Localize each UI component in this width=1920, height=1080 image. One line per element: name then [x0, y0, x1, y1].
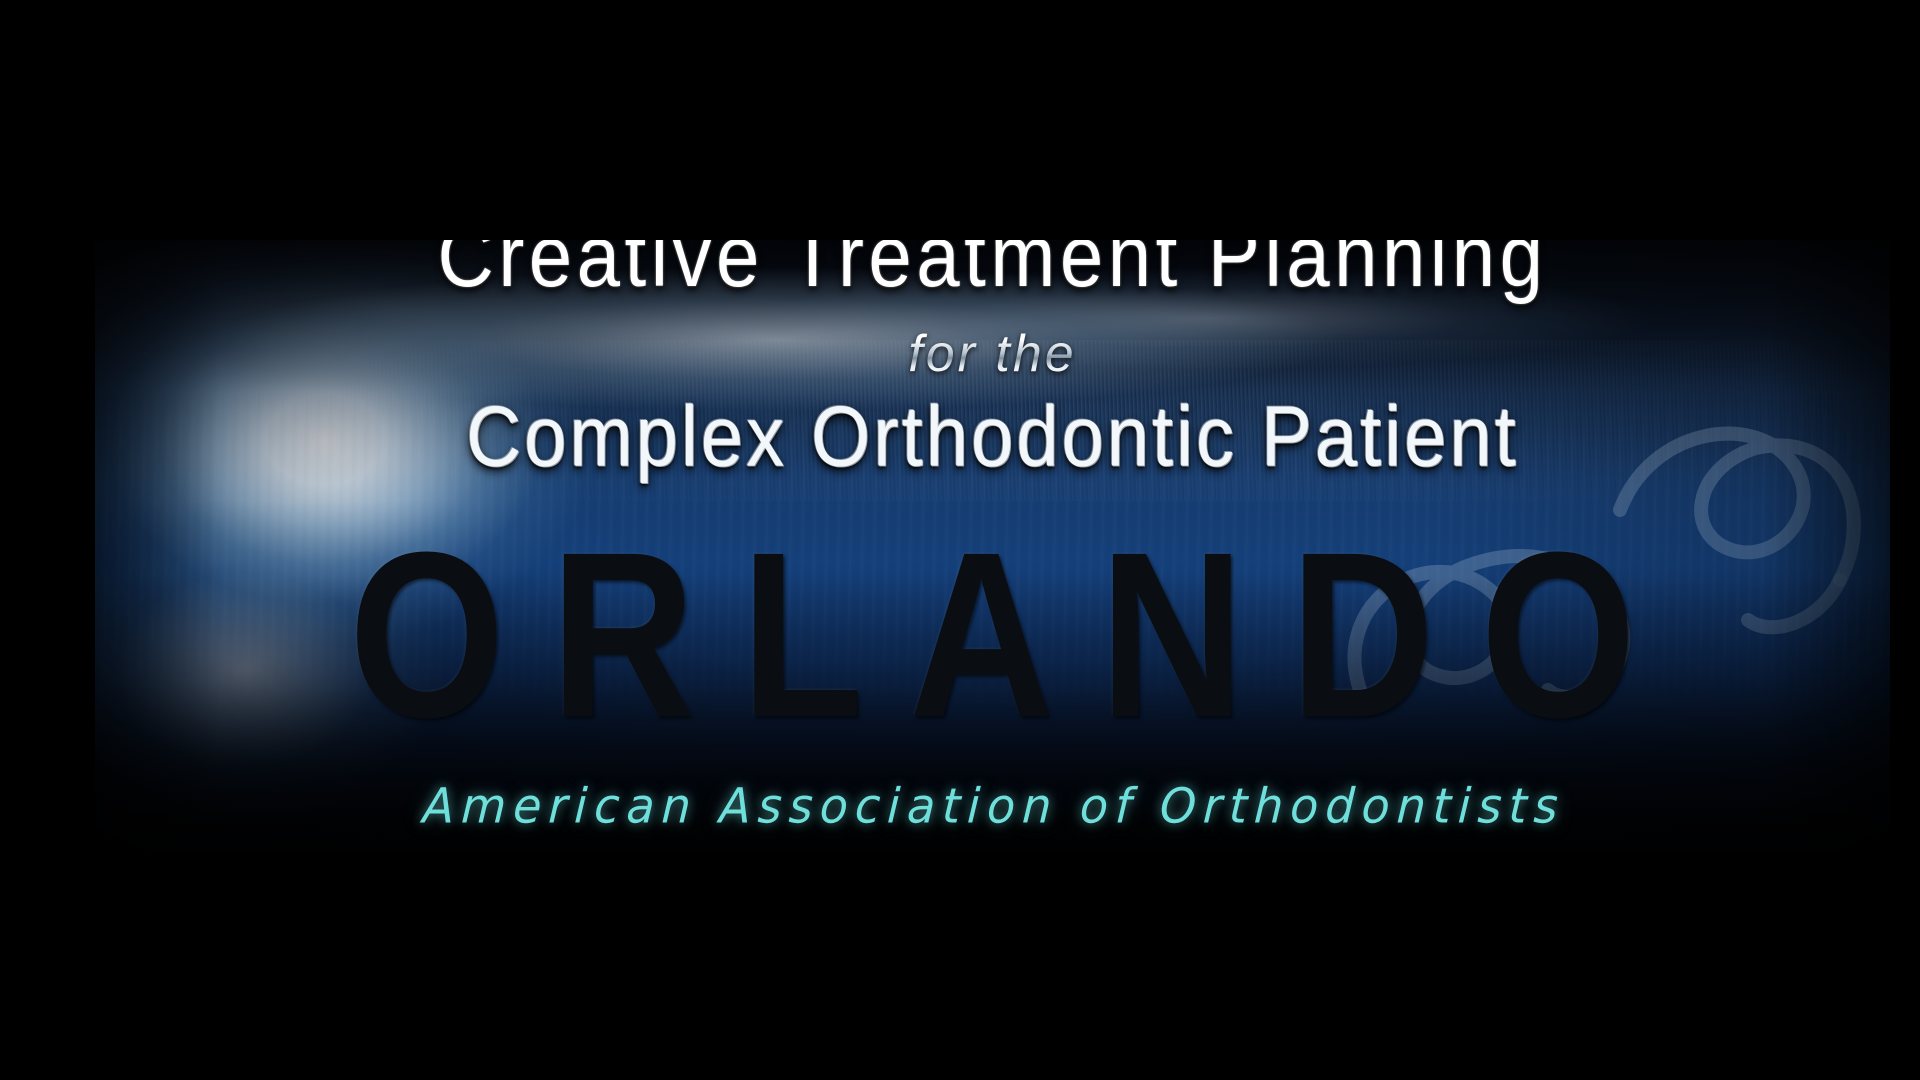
presentation-slide: ORLANDO Creative Treatment Planning for …: [0, 0, 1920, 1080]
title-line-connector: for the: [95, 328, 1890, 380]
organization-name: American Association of Orthodontists: [95, 777, 1890, 834]
title-line-primary: Creative Treatment Planning: [95, 240, 1890, 299]
title-line-secondary: Complex Orthodontic Patient: [95, 395, 1890, 480]
title-block: Creative Treatment Planning for the Comp…: [95, 240, 1890, 862]
conference-banner: ORLANDO Creative Treatment Planning for …: [95, 240, 1890, 862]
